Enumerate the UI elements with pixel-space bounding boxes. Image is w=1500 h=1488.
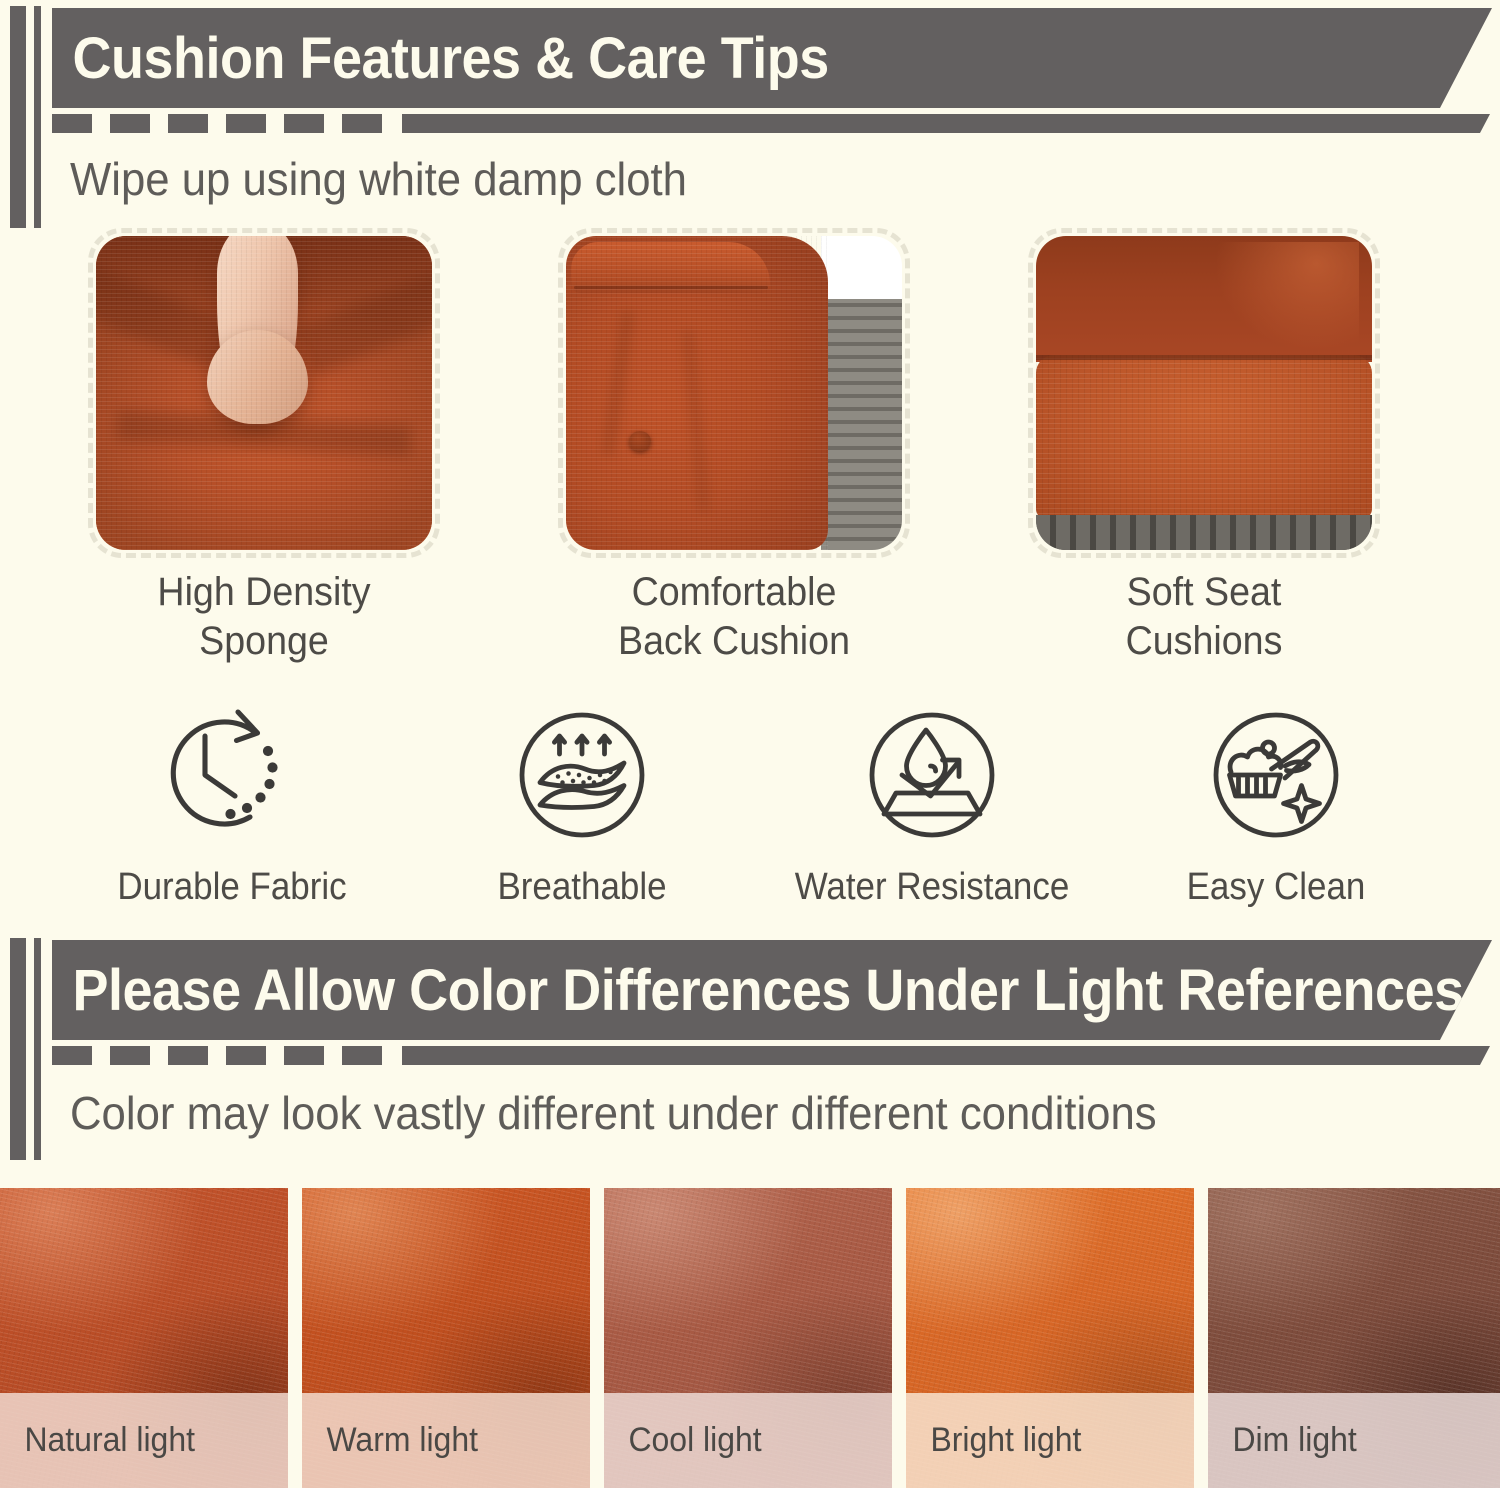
dashed-divider-1: [52, 114, 1490, 133]
fabric-weave-texture: [96, 236, 432, 550]
seat-cushion-photo: [1028, 228, 1380, 558]
color-swatch-row: Natural light Warm light Cool light Brig…: [0, 1188, 1500, 1488]
caption-line-1: Soft Seat: [1039, 568, 1370, 617]
photo-inner: [96, 236, 432, 550]
divider-solid-bar: [402, 1046, 1490, 1065]
swatch-label-band: Natural light: [0, 1393, 288, 1488]
swatch-natural-light: Natural light: [0, 1188, 288, 1488]
swatch-label-band: Warm light: [302, 1393, 590, 1488]
divider-dash: [52, 1046, 92, 1065]
breathable-fabric-icon: [507, 700, 657, 850]
swatch-cool-light: Cool light: [604, 1188, 892, 1488]
subtitle-wipe-instruction: Wipe up using white damp cloth: [70, 152, 687, 206]
divider-dash: [168, 114, 208, 133]
feature-label: Water Resistance: [794, 866, 1070, 909]
photo-caption-comfortable-back-cushion: Comfortable Back Cushion: [569, 568, 900, 666]
feature-label: Durable Fabric: [94, 866, 370, 909]
left-rail-thick-section-2: [10, 938, 26, 1160]
divider-dash: [52, 114, 92, 133]
swatch-bright-light: Bright light: [906, 1188, 1194, 1488]
product-photo-row: High Density Sponge Comfortable Back Cus…: [0, 228, 1500, 568]
feature-label: Easy Clean: [1138, 866, 1414, 909]
swatch-label: Cool light: [604, 1421, 762, 1460]
divider-dash: [342, 1046, 382, 1065]
left-rail-thin-section-2: [34, 938, 41, 1160]
wicker-base: [1036, 515, 1372, 550]
feature-durable-fabric: Durable Fabric: [82, 700, 382, 909]
divider-dash: [284, 1046, 324, 1065]
photo-caption-high-density-sponge: High Density Sponge: [99, 568, 430, 666]
clock-arrow-icon: [148, 700, 316, 850]
feature-breathable: Breathable: [432, 700, 732, 909]
swatch-label-band: Dim light: [1208, 1393, 1500, 1488]
water-droplet-repel-icon: [857, 700, 1007, 850]
divider-dash: [226, 1046, 266, 1065]
photo-caption-soft-seat-cushions: Soft Seat Cushions: [1039, 568, 1370, 666]
brush-cleaning-icon: [1201, 700, 1351, 850]
fabric-weave-texture: [566, 236, 828, 550]
caption-line-1: High Density: [99, 568, 430, 617]
caption-line-2: Sponge: [99, 617, 430, 666]
back-cushion-photo: [558, 228, 910, 558]
divider-dash: [342, 114, 382, 133]
caption-line-2: Back Cushion: [569, 617, 900, 666]
fabric-weave-texture: [1036, 355, 1372, 518]
hand-pressing-cushion-photo: [88, 228, 440, 558]
divider-dash: [110, 1046, 150, 1065]
swatch-label-band: Bright light: [906, 1393, 1194, 1488]
feature-label: Breathable: [444, 866, 720, 909]
banner-color-differences: Please Allow Color Differences Under Lig…: [52, 940, 1492, 1040]
back-cushion-highlight: [1217, 242, 1358, 349]
swatch-warm-light: Warm light: [302, 1188, 590, 1488]
divider-dash: [284, 114, 324, 133]
divider-solid-bar: [402, 114, 1490, 133]
swatch-label: Bright light: [906, 1421, 1081, 1460]
divider-dash: [110, 114, 150, 133]
photo-frame: [1028, 228, 1380, 558]
cushion-seam: [1036, 355, 1372, 360]
divider-dash: [226, 114, 266, 133]
left-rail-thin-section-1: [34, 6, 41, 228]
wicker-weave: [821, 299, 902, 550]
swatch-label-band: Cool light: [604, 1393, 892, 1488]
dashed-divider-2: [52, 1046, 1490, 1065]
back-cushion-fabric: [566, 236, 828, 550]
feature-icon-row: Durable Fabric Breathable: [0, 700, 1500, 920]
swatch-dim-light: Dim light: [1208, 1188, 1500, 1488]
swatch-label: Natural light: [0, 1421, 195, 1460]
photo-inner: [1036, 236, 1372, 550]
caption-line-1: Comfortable: [569, 568, 900, 617]
feature-easy-clean: Easy Clean: [1126, 700, 1426, 909]
banner-cushion-features: Cushion Features & Care Tips: [52, 8, 1492, 108]
photo-inner: [566, 236, 902, 550]
left-rail-thick-section-1: [10, 6, 26, 228]
banner-title-2: Please Allow Color Differences Under Lig…: [52, 957, 1464, 1024]
divider-dash: [168, 1046, 208, 1065]
banner-title-1: Cushion Features & Care Tips: [52, 25, 829, 92]
swatch-label: Warm light: [302, 1421, 478, 1460]
photo-frame: [88, 228, 440, 558]
caption-line-2: Cushions: [1039, 617, 1370, 666]
swatch-label: Dim light: [1208, 1421, 1357, 1460]
feature-water-resistance: Water Resistance: [782, 700, 1082, 909]
photo-frame: [558, 228, 910, 558]
subtitle-color-note: Color may look vastly different under di…: [70, 1086, 1157, 1140]
